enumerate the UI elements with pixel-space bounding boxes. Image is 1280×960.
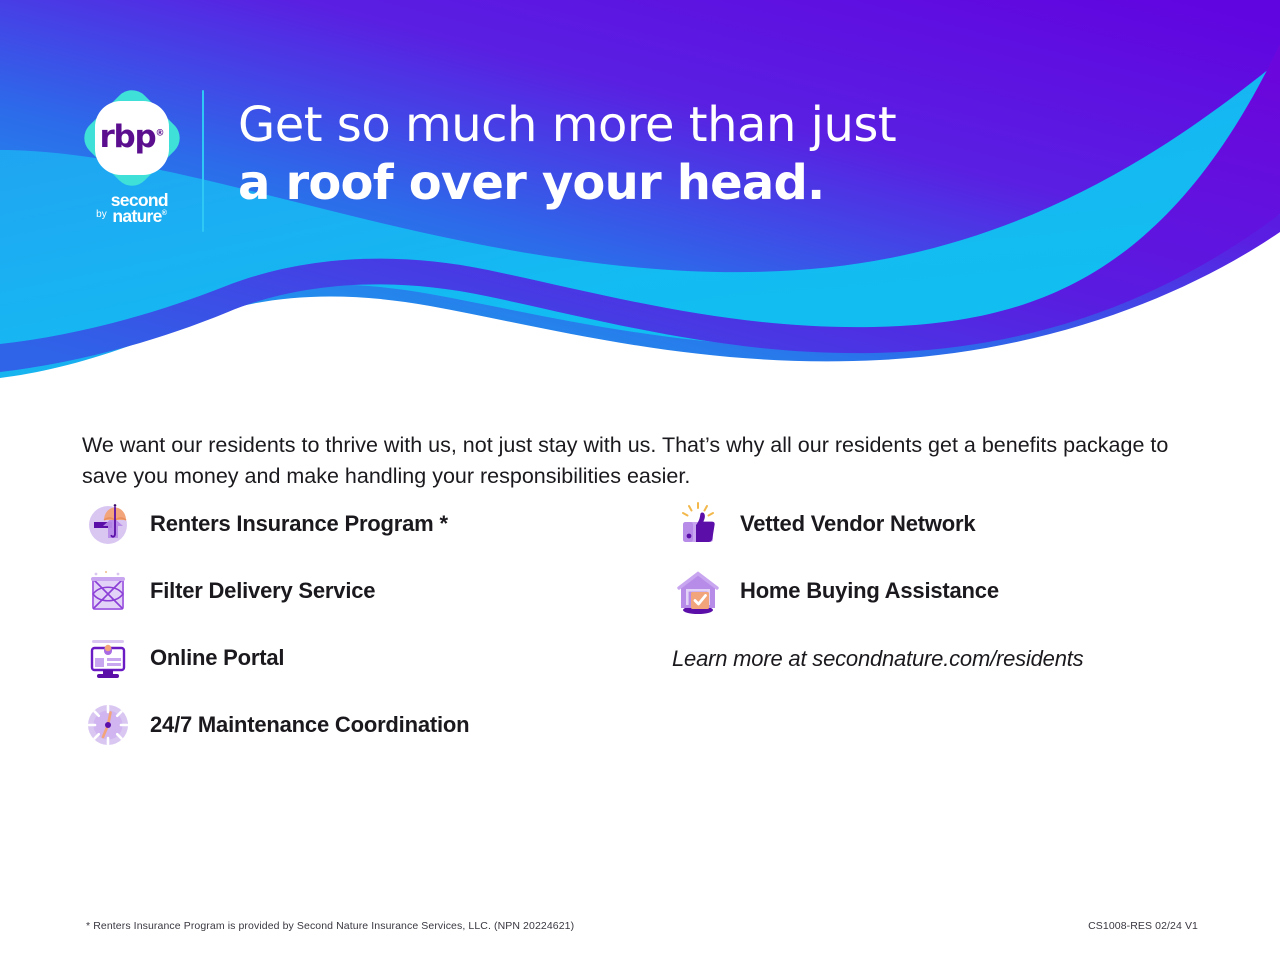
hero-headline: Get so much more than just a roof over y… bbox=[238, 96, 1138, 212]
logo-brand-registered-mark: ® bbox=[162, 210, 166, 217]
logo-by-second-nature: by second nature® bbox=[74, 192, 190, 225]
learn-more-text: Learn more at secondnature.com/residents bbox=[672, 646, 1083, 672]
benefit-item-home-buying: Home Buying Assistance bbox=[672, 565, 999, 617]
air-filter-icon bbox=[82, 565, 134, 617]
headline-line-2: a roof over your head. bbox=[238, 154, 1138, 212]
benefit-label: Renters Insurance Program * bbox=[150, 511, 448, 537]
benefit-label: Home Buying Assistance bbox=[740, 578, 999, 604]
logo-brand-nature: nature® bbox=[111, 208, 168, 224]
logo-squircle-shape: rbp® bbox=[95, 101, 169, 175]
monitor-icon bbox=[82, 632, 134, 684]
vertical-divider bbox=[202, 90, 204, 232]
benefit-label: 24/7 Maintenance Coordination bbox=[150, 712, 469, 738]
rbp-logo-lockup: rbp® by second nature® bbox=[74, 88, 190, 233]
benefit-item-filter-delivery: Filter Delivery Service bbox=[82, 565, 469, 617]
clock-icon bbox=[82, 699, 134, 751]
rbp-logo-mark: rbp® bbox=[82, 88, 182, 188]
thumbs-up-icon bbox=[672, 498, 724, 550]
benefit-item-renters-insurance: Renters Insurance Program * bbox=[82, 498, 469, 550]
benefit-item-online-portal: Online Portal bbox=[82, 632, 469, 684]
logo-rbp-text: rbp® bbox=[99, 122, 164, 153]
logo-registered-mark: ® bbox=[156, 128, 165, 138]
footer-disclaimer: * Renters Insurance Program is provided … bbox=[86, 920, 574, 932]
intro-paragraph: We want our residents to thrive with us,… bbox=[82, 430, 1172, 492]
benefit-item-vetted-vendor: Vetted Vendor Network bbox=[672, 498, 999, 550]
hero-banner: rbp® by second nature® Get so much more … bbox=[0, 0, 1280, 380]
benefit-label: Vetted Vendor Network bbox=[740, 511, 975, 537]
footer-doc-code: CS1008-RES 02/24 V1 bbox=[1088, 920, 1198, 932]
benefits-column-right: Vetted Vendor Network Home Buying Assist… bbox=[672, 498, 999, 632]
headline-line-1: Get so much more than just bbox=[238, 96, 1138, 154]
house-check-icon bbox=[672, 565, 724, 617]
benefit-label: Online Portal bbox=[150, 645, 284, 671]
benefit-item-maintenance: 24/7 Maintenance Coordination bbox=[82, 699, 469, 751]
benefits-column-left: Renters Insurance Program * Filter Deliv… bbox=[82, 498, 469, 766]
benefit-label: Filter Delivery Service bbox=[150, 578, 375, 604]
logo-by-word: by bbox=[96, 209, 107, 220]
umbrella-icon bbox=[82, 498, 134, 550]
footer: * Renters Insurance Program is provided … bbox=[0, 920, 1280, 936]
